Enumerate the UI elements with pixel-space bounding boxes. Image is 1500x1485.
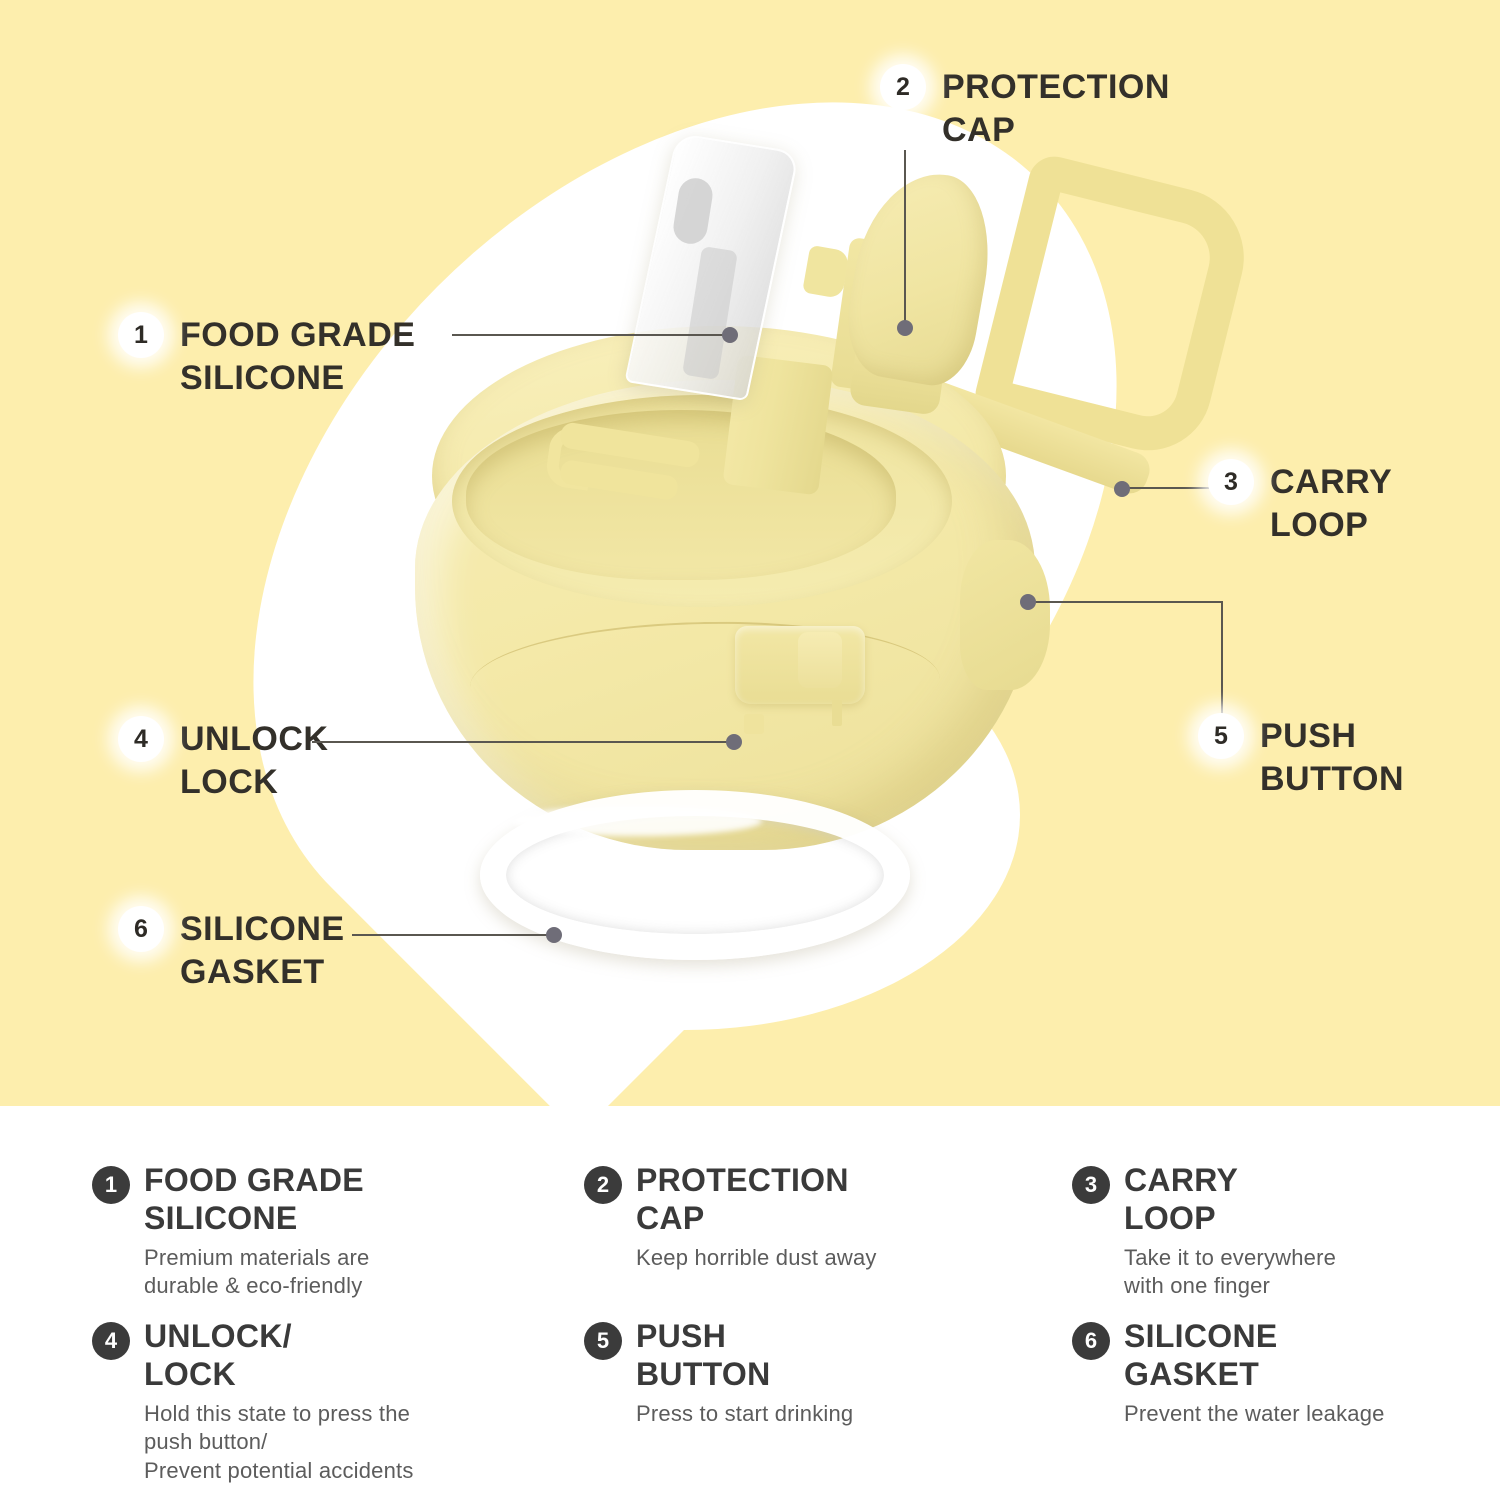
- callout-label-6: SILICONE GASKET: [180, 906, 345, 993]
- feature-title-6: SILICONE GASKET: [1124, 1318, 1385, 1394]
- feature-title-3: CARRY LOOP: [1124, 1162, 1336, 1238]
- callout-badge-5: 5: [1198, 713, 1244, 759]
- leader-line-6: [352, 934, 552, 936]
- feature-desc-6: Prevent the water leakage: [1124, 1400, 1385, 1429]
- feature-badge-5: 5: [584, 1322, 622, 1360]
- callout-1-food-grade-silicone[interactable]: 1 FOOD GRADE SILICONE: [118, 312, 415, 399]
- feature-desc-5: Press to start drinking: [636, 1400, 853, 1429]
- callout-badge-3: 3: [1208, 459, 1254, 505]
- callout-badge-1: 1: [118, 312, 164, 358]
- callout-label-2: PROTECTION CAP: [942, 64, 1170, 151]
- callout-badge-6: 6: [118, 906, 164, 952]
- callout-badge-4: 4: [118, 716, 164, 762]
- feature-badge-6: 6: [1072, 1322, 1110, 1360]
- feature-desc-2: Keep horrible dust away: [636, 1244, 877, 1273]
- feature-title-1: FOOD GRADE SILICONE: [144, 1162, 369, 1238]
- leader-dot-6: [546, 927, 562, 943]
- feature-item-2: 2 PROTECTION CAP Keep horrible dust away: [584, 1162, 1014, 1272]
- callout-label-5: PUSH BUTTON: [1260, 713, 1404, 800]
- leader-line-4: [312, 741, 740, 743]
- gasket-highlight-part: [512, 806, 762, 836]
- callout-label-1: FOOD GRADE SILICONE: [180, 312, 415, 399]
- leader-dot-1: [722, 327, 738, 343]
- leader-line-5-horizontal: [1028, 601, 1223, 603]
- callout-5-push-button[interactable]: 5 PUSH BUTTON: [1198, 713, 1404, 800]
- protection-cap-part: [838, 162, 1002, 391]
- callout-badge-2: 2: [880, 64, 926, 110]
- feature-badge-2: 2: [584, 1166, 622, 1204]
- feature-desc-4: Hold this state to press the push button…: [144, 1400, 414, 1485]
- leader-dot-5: [1020, 594, 1036, 610]
- feature-item-1: 1 FOOD GRADE SILICONE Premium materials …: [92, 1162, 522, 1301]
- feature-item-5: 5 PUSH BUTTON Press to start drinking: [584, 1318, 1014, 1428]
- lid-recess-part: [466, 410, 896, 580]
- callout-label-3: CARRY LOOP: [1270, 459, 1392, 546]
- feature-title-5: PUSH BUTTON: [636, 1318, 853, 1394]
- feature-item-4: 4 UNLOCK/ LOCK Hold this state to press …: [92, 1318, 522, 1485]
- hero-section: 1 FOOD GRADE SILICONE 2 PROTECTION CAP 3…: [0, 0, 1500, 1106]
- leader-dot-3: [1114, 481, 1130, 497]
- callout-6-silicone-gasket[interactable]: 6 SILICONE GASKET: [118, 906, 345, 993]
- push-button-part: [960, 540, 1050, 690]
- callout-label-4: UNLOCK LOCK: [180, 716, 328, 803]
- callout-2-protection-cap[interactable]: 2 PROTECTION CAP: [880, 64, 1170, 151]
- leader-dot-2: [897, 320, 913, 336]
- feature-list-section: 1 FOOD GRADE SILICONE Premium materials …: [0, 1106, 1500, 1471]
- feature-badge-1: 1: [92, 1166, 130, 1204]
- feature-desc-3: Take it to everywhere with one finger: [1124, 1244, 1336, 1301]
- product-feature-infographic: 1 FOOD GRADE SILICONE 2 PROTECTION CAP 3…: [0, 0, 1500, 1471]
- unlock-marker-part: [744, 714, 764, 734]
- feature-item-6: 6 SILICONE GASKET Prevent the water leak…: [1072, 1318, 1492, 1428]
- callout-4-unlock-lock[interactable]: 4 UNLOCK LOCK: [118, 716, 328, 803]
- leader-line-5-vertical: [1221, 601, 1223, 717]
- feature-badge-4: 4: [92, 1322, 130, 1360]
- leader-line-2: [904, 150, 906, 326]
- leader-line-1: [452, 334, 730, 336]
- lock-marker-part: [832, 700, 842, 726]
- leader-line-3: [1122, 487, 1212, 489]
- lock-knob-part: [798, 632, 842, 688]
- callout-3-carry-loop[interactable]: 3 CARRY LOOP: [1208, 459, 1392, 546]
- feature-item-3: 3 CARRY LOOP Take it to everywhere with …: [1072, 1162, 1492, 1301]
- feature-title-4: UNLOCK/ LOCK: [144, 1318, 414, 1394]
- leader-dot-4: [726, 734, 742, 750]
- feature-desc-1: Premium materials are durable & eco-frie…: [144, 1244, 369, 1301]
- feature-badge-3: 3: [1072, 1166, 1110, 1204]
- feature-title-2: PROTECTION CAP: [636, 1162, 877, 1238]
